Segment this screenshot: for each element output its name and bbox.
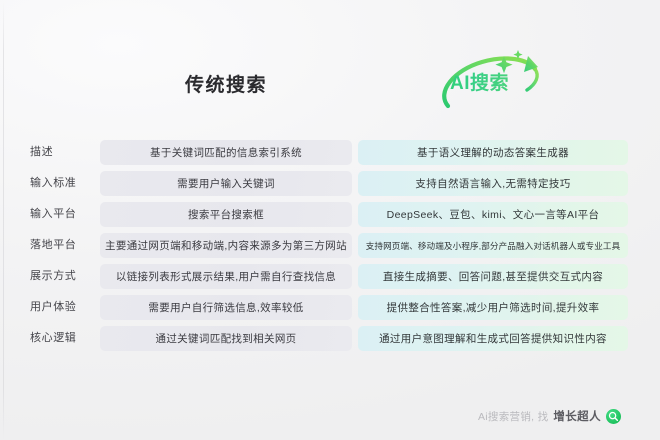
slide-canvas: 传统搜索 bbox=[0, 0, 660, 440]
cell-ai-text: 提供整合性答案,减少用户筛选时间,提升效率 bbox=[387, 300, 600, 315]
cell-ai-text: 基于语义理解的动态答案生成器 bbox=[417, 145, 569, 160]
cell-ai: 直接生成摘要、回答问题,甚至提供交互式内容 bbox=[358, 264, 628, 289]
cell-traditional-text: 主要通过网页端和移动端,内容来源多为第三方网站 bbox=[105, 238, 347, 253]
row-label: 落地平台 bbox=[30, 233, 96, 258]
cell-ai-text: 支持网页端、移动端及小程序,部分产品融入对话机器人或专业工具 bbox=[366, 240, 621, 252]
ai-search-label: AI搜索 bbox=[450, 68, 509, 95]
cell-traditional: 搜索平台搜索框 bbox=[100, 202, 352, 227]
cell-traditional-text: 搜索平台搜索框 bbox=[188, 207, 264, 222]
table-row: 输入标准需要用户输入关键词支持自然语言输入,无需特定技巧 bbox=[0, 171, 660, 196]
page-title-traditional-search: 传统搜索 bbox=[100, 70, 352, 97]
table-row: 展示方式以链接列表形式展示结果,用户需自行查找信息直接生成摘要、回答问题,甚至提… bbox=[0, 264, 660, 289]
cell-traditional-text: 通过关键词匹配找到相关网页 bbox=[155, 331, 296, 346]
row-label: 核心逻辑 bbox=[30, 326, 96, 351]
cell-traditional: 以链接列表形式展示结果,用户需自行查找信息 bbox=[100, 264, 352, 289]
table-row: 用户体验需要用户自行筛选信息,效率较低提供整合性答案,减少用户筛选时间,提升效率 bbox=[0, 295, 660, 320]
cell-traditional: 基于关键词匹配的信息索引系统 bbox=[100, 140, 352, 165]
table-row: 描述基于关键词匹配的信息索引系统基于语义理解的动态答案生成器 bbox=[0, 140, 660, 165]
cell-ai-text: 通过用户意图理解和生成式回答提供知识性内容 bbox=[379, 331, 607, 346]
cell-ai: 提供整合性答案,减少用户筛选时间,提升效率 bbox=[358, 295, 628, 320]
row-label: 描述 bbox=[30, 140, 96, 165]
cell-traditional-text: 以链接列表形式展示结果,用户需自行查找信息 bbox=[116, 269, 336, 284]
cell-traditional: 需要用户输入关键词 bbox=[100, 171, 352, 196]
cell-ai: 通过用户意图理解和生成式回答提供知识性内容 bbox=[358, 326, 628, 351]
cell-ai: DeepSeek、豆包、kimi、文心一言等AI平台 bbox=[358, 202, 628, 227]
cell-traditional-text: 需要用户自行筛选信息,效率较低 bbox=[148, 300, 303, 315]
cell-traditional: 主要通过网页端和移动端,内容来源多为第三方网站 bbox=[100, 233, 352, 258]
cell-traditional-text: 需要用户输入关键词 bbox=[177, 176, 275, 191]
cell-ai: 支持网页端、移动端及小程序,部分产品融入对话机器人或专业工具 bbox=[358, 233, 628, 258]
cell-ai: 基于语义理解的动态答案生成器 bbox=[358, 140, 628, 165]
cell-traditional: 需要用户自行筛选信息,效率较低 bbox=[100, 295, 352, 320]
footer-watermark: Ai搜索营销, 找 增长超人 bbox=[478, 405, 621, 427]
row-label: 输入平台 bbox=[30, 202, 96, 227]
cell-ai: 支持自然语言输入,无需特定技巧 bbox=[358, 171, 628, 196]
row-label: 输入标准 bbox=[30, 171, 96, 196]
table-row: 输入平台搜索平台搜索框DeepSeek、豆包、kimi、文心一言等AI平台 bbox=[0, 202, 660, 227]
table-row: 落地平台主要通过网页端和移动端,内容来源多为第三方网站支持网页端、移动端及小程序… bbox=[0, 233, 660, 258]
row-label: 用户体验 bbox=[30, 295, 96, 320]
footer-brand-name: 增长超人 bbox=[553, 408, 601, 424]
footer-prefix-text: Ai搜索营销, 找 bbox=[478, 409, 548, 424]
search-icon[interactable] bbox=[606, 409, 621, 424]
cell-ai-text: DeepSeek、豆包、kimi、文心一言等AI平台 bbox=[387, 207, 600, 222]
cell-traditional-text: 基于关键词匹配的信息索引系统 bbox=[150, 145, 302, 160]
table-row: 核心逻辑通过关键词匹配找到相关网页通过用户意图理解和生成式回答提供知识性内容 bbox=[0, 326, 660, 351]
page-title-ai-search-logo: AI搜索 bbox=[432, 46, 562, 112]
cell-ai-text: 直接生成摘要、回答问题,甚至提供交互式内容 bbox=[383, 269, 603, 284]
cell-traditional: 通过关键词匹配找到相关网页 bbox=[100, 326, 352, 351]
cell-ai-text: 支持自然语言输入,无需特定技巧 bbox=[415, 176, 570, 191]
row-label: 展示方式 bbox=[30, 264, 96, 289]
